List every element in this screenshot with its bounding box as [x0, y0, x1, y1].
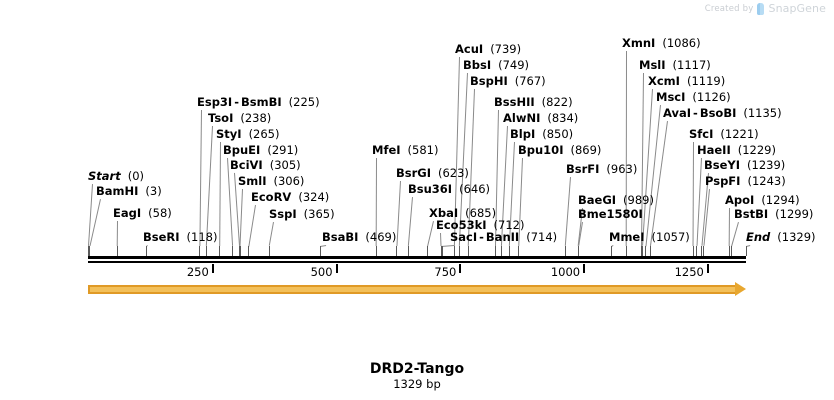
enzyme-name: Bme1580I — [578, 207, 643, 221]
enzyme-name-isoschizomer: BsmBI — [241, 95, 282, 109]
enzyme-leader-line — [248, 205, 256, 246]
enzyme-name: BlpI — [510, 127, 535, 141]
enzyme-label[interactable]: EcoRV(324) — [251, 191, 329, 204]
restriction-site-mark[interactable] — [565, 246, 566, 256]
enzyme-position: (265) — [242, 127, 280, 141]
restriction-site-mark[interactable] — [396, 246, 397, 256]
enzyme-pair-separator: - — [232, 95, 241, 109]
enzyme-label[interactable]: BseRI(118) — [143, 231, 217, 244]
enzyme-position: (714) — [519, 230, 557, 244]
enzyme-position: (749) — [491, 58, 529, 72]
enzyme-name-isoschizomer: BanII — [486, 230, 519, 244]
enzyme-name: Start — [88, 169, 121, 183]
enzyme-name: BspHI — [470, 74, 508, 88]
enzyme-name: SmlI — [238, 174, 267, 188]
enzyme-label[interactable]: XmnI(1086) — [622, 37, 701, 50]
enzyme-label[interactable]: TsoI(238) — [208, 112, 271, 125]
enzyme-position: (646) — [452, 182, 490, 196]
enzyme-name: AvaI — [663, 106, 691, 120]
restriction-site-mark[interactable] — [501, 246, 502, 256]
restriction-site-mark[interactable] — [146, 246, 147, 256]
enzyme-label[interactable]: Bpu10I(869) — [518, 144, 601, 157]
enzyme-name: BaeGI — [578, 193, 616, 207]
enzyme-name: BsrFI — [566, 162, 599, 176]
enzyme-leader-line — [408, 197, 413, 246]
restriction-site-mark[interactable] — [219, 246, 220, 256]
enzyme-label[interactable]: MmeI(1057) — [609, 231, 690, 244]
ruler-tick-label: 750 — [434, 265, 459, 279]
enzyme-label[interactable]: SfcI(1221) — [689, 128, 759, 141]
enzyme-label[interactable]: AcuI(739) — [455, 43, 521, 56]
enzyme-pair-separator: - — [691, 106, 700, 120]
enzyme-name: BssHII — [494, 95, 535, 109]
snapgene-logo-icon — [757, 3, 764, 15]
enzyme-position: (1086) — [655, 36, 700, 50]
restriction-site-mark[interactable] — [240, 246, 241, 256]
restriction-site-mark[interactable] — [199, 246, 200, 256]
enzyme-name: BpuEI — [223, 143, 260, 157]
enzyme-leader-line — [442, 245, 455, 247]
restriction-site-mark[interactable] — [232, 246, 233, 256]
restriction-site-mark[interactable] — [117, 246, 118, 256]
restriction-site-mark[interactable] — [578, 246, 579, 256]
restriction-site-mark[interactable] — [269, 246, 270, 256]
enzyme-leader-line — [219, 142, 221, 246]
enzyme-position: (3) — [138, 184, 161, 198]
enzyme-label[interactable]: BspHI(767) — [470, 75, 546, 88]
enzyme-position: (365) — [297, 207, 335, 221]
enzyme-label[interactable]: SacI-BanII(714) — [450, 231, 557, 244]
restriction-site-mark[interactable] — [495, 246, 496, 256]
enzyme-position: (767) — [508, 74, 546, 88]
enzyme-name: BciVI — [230, 158, 263, 172]
feature-track[interactable] — [88, 285, 746, 294]
enzyme-name: StyI — [216, 127, 242, 141]
restriction-site-mark[interactable] — [703, 246, 704, 256]
enzyme-position: (1229) — [731, 143, 776, 157]
restriction-site-mark[interactable] — [650, 246, 651, 256]
enzyme-label[interactable]: StyI(265) — [216, 128, 280, 141]
enzyme-leader-line — [440, 233, 442, 246]
restriction-site-mark[interactable] — [248, 246, 249, 256]
restriction-site-mark[interactable] — [376, 246, 377, 256]
restriction-site-mark[interactable] — [89, 246, 90, 256]
enzyme-position: (306) — [267, 174, 305, 188]
restriction-site-mark[interactable] — [642, 246, 643, 256]
enzyme-label[interactable]: BaeGI(989) — [578, 194, 654, 207]
enzyme-name-isoschizomer: BsoBI — [700, 106, 737, 120]
restriction-site-mark[interactable] — [518, 246, 519, 256]
restriction-site-mark[interactable] — [701, 246, 702, 256]
enzyme-name: SspI — [269, 207, 297, 221]
enzyme-position: (1221) — [713, 127, 758, 141]
enzyme-label[interactable]: BssHII(822) — [494, 96, 573, 109]
feature-arrow-body[interactable] — [88, 285, 735, 294]
enzyme-pair-separator: - — [477, 230, 486, 244]
enzyme-name: BbsI — [463, 58, 491, 72]
enzyme-name: End — [746, 230, 770, 244]
enzyme-position: (1243) — [740, 174, 785, 188]
feature-arrow-head[interactable] — [735, 282, 746, 296]
enzyme-label[interactable]: SmlI(306) — [238, 175, 304, 188]
ruler-tick — [459, 264, 461, 273]
restriction-site-mark[interactable] — [645, 246, 646, 256]
enzyme-name: PspFI — [705, 174, 740, 188]
enzyme-label[interactable]: BsrFI(963) — [566, 163, 637, 176]
enzyme-label[interactable]: Esp3I-BsmBI(225) — [197, 96, 320, 109]
enzyme-label[interactable]: AvaI-BsoBI(1135) — [663, 107, 782, 120]
enzyme-name: EcoRV — [251, 190, 291, 204]
enzyme-name: BsrGI — [396, 166, 431, 180]
enzyme-leader-line — [427, 221, 434, 246]
enzyme-position: (1294) — [754, 193, 799, 207]
ruler-line-lower — [88, 261, 746, 263]
enzyme-name: XcmI — [648, 74, 680, 88]
enzyme-name: SacI — [450, 230, 477, 244]
watermark-brand-label: SnapGene — [768, 2, 826, 15]
enzyme-name: BsaBI — [322, 230, 358, 244]
enzyme-position: (58) — [141, 206, 172, 220]
enzyme-label[interactable]: BseYI(1239) — [704, 159, 785, 172]
enzyme-position: (291) — [260, 143, 298, 157]
enzyme-label[interactable]: Bme1580I — [578, 208, 643, 221]
enzyme-position: (1329) — [770, 230, 815, 244]
ruler-tick — [212, 264, 214, 273]
enzyme-name: MscI — [656, 90, 685, 104]
restriction-site-mark[interactable] — [408, 246, 409, 256]
enzyme-label[interactable]: PspFI(1243) — [705, 175, 786, 188]
enzyme-label[interactable]: BstBI(1299) — [734, 208, 813, 221]
enzyme-name: HaeII — [697, 143, 731, 157]
ruler-tick — [336, 264, 338, 273]
enzyme-leader-line — [396, 181, 401, 246]
enzyme-name: BstBI — [734, 207, 768, 221]
enzyme-leader-line — [206, 126, 213, 246]
restriction-site-mark[interactable] — [468, 246, 469, 256]
enzyme-position: (1119) — [680, 74, 725, 88]
enzyme-leader-line — [565, 177, 571, 246]
enzyme-position: (305) — [263, 158, 301, 172]
enzyme-name: AlwNI — [503, 111, 540, 125]
enzyme-position: (989) — [616, 193, 654, 207]
enzyme-name: XmnI — [622, 36, 655, 50]
enzyme-name: BseRI — [143, 230, 180, 244]
restriction-site-mark[interactable] — [320, 246, 321, 256]
restriction-map-canvas: Created by SnapGene Start(0)BamHI(3)EagI… — [0, 0, 834, 400]
restriction-site-mark[interactable] — [696, 246, 697, 256]
enzyme-position: (1117) — [666, 58, 711, 72]
enzyme-name: AcuI — [455, 42, 483, 56]
page-subtitle: 1329 bp — [0, 377, 834, 391]
enzyme-position: (1126) — [685, 90, 730, 104]
enzyme-position: (1239) — [740, 158, 785, 172]
enzyme-label[interactable]: MscI(1126) — [656, 91, 731, 104]
enzyme-leader-line — [240, 189, 243, 246]
enzyme-position: (869) — [563, 143, 601, 157]
ruler-tick — [707, 264, 709, 273]
ruler-tick-label: 1000 — [551, 265, 583, 279]
enzyme-label[interactable]: MslI(1117) — [639, 59, 711, 72]
enzyme-name: TsoI — [208, 111, 233, 125]
enzyme-label[interactable]: MfeI(581) — [372, 144, 438, 157]
enzyme-label[interactable]: BsrGI(623) — [396, 167, 469, 180]
enzyme-position: (118) — [180, 230, 218, 244]
restriction-site-mark[interactable] — [729, 246, 730, 256]
enzyme-label[interactable]: BbsI(749) — [463, 59, 529, 72]
enzyme-name: BamHI — [96, 184, 138, 198]
enzyme-name: Bsu36I — [408, 182, 452, 196]
enzyme-name: EagI — [113, 206, 141, 220]
enzyme-position: (581) — [401, 143, 439, 157]
enzyme-position: (324) — [291, 190, 329, 204]
enzyme-leader-line — [731, 222, 739, 246]
enzyme-label[interactable]: BamHI(3) — [96, 185, 162, 198]
restriction-site-mark[interactable] — [693, 246, 694, 256]
enzyme-position: (834) — [540, 111, 578, 125]
ruler-tick-label: 1250 — [675, 265, 707, 279]
restriction-site-mark[interactable] — [731, 246, 732, 256]
restriction-site-mark[interactable] — [459, 246, 460, 256]
enzyme-position: (850) — [535, 127, 573, 141]
enzyme-name: MfeI — [372, 143, 401, 157]
restriction-site-mark[interactable] — [626, 246, 627, 256]
enzyme-name: Esp3I — [197, 95, 232, 109]
enzyme-name: MmeI — [609, 230, 645, 244]
enzyme-name: SfcI — [689, 127, 713, 141]
enzyme-label[interactable]: End(1329) — [746, 231, 816, 244]
restriction-site-mark[interactable] — [611, 246, 612, 256]
enzyme-name: Bpu10I — [518, 143, 563, 157]
enzyme-position: (1135) — [736, 106, 781, 120]
enzyme-label[interactable]: ApoI(1294) — [725, 194, 800, 207]
enzyme-position: (225) — [282, 95, 320, 109]
restriction-site-mark[interactable] — [206, 246, 207, 256]
enzyme-leader-line — [693, 142, 694, 246]
restriction-site-mark[interactable] — [427, 246, 428, 256]
enzyme-label[interactable]: HaeII(1229) — [697, 144, 776, 157]
enzyme-leader-line — [729, 208, 730, 246]
enzyme-position: (238) — [233, 111, 271, 125]
snapgene-watermark: Created by SnapGene — [705, 2, 826, 15]
ruler-tick-label: 250 — [187, 265, 212, 279]
ruler-tick-label: 500 — [311, 265, 336, 279]
enzyme-label[interactable]: BciVI(305) — [230, 159, 301, 172]
restriction-site-mark[interactable] — [442, 246, 443, 256]
restriction-site-mark[interactable] — [746, 246, 747, 256]
enzyme-position: (623) — [431, 166, 469, 180]
enzyme-name: ApoI — [725, 193, 754, 207]
enzyme-leader-line — [696, 158, 702, 246]
enzyme-leader-line — [117, 221, 118, 246]
enzyme-position: (469) — [358, 230, 396, 244]
enzyme-leader-line — [199, 110, 202, 246]
enzyme-position: (739) — [483, 42, 521, 56]
enzyme-label[interactable]: AlwNI(834) — [503, 112, 578, 125]
ruler-tick — [583, 264, 585, 273]
page-title: DRD2-Tango — [0, 361, 834, 377]
enzyme-label[interactable]: XcmI(1119) — [648, 75, 725, 88]
enzyme-label[interactable]: BsaBI(469) — [322, 231, 396, 244]
enzyme-position: (822) — [535, 95, 573, 109]
enzyme-leader-line — [269, 222, 274, 246]
watermark-created-by-label: Created by — [705, 4, 754, 14]
enzyme-label[interactable]: Bsu36I(646) — [408, 183, 490, 196]
enzyme-name: BseYI — [704, 158, 740, 172]
restriction-site-mark[interactable] — [509, 246, 510, 256]
enzyme-position: (1299) — [768, 207, 813, 221]
enzyme-label[interactable]: BlpI(850) — [510, 128, 573, 141]
enzyme-label[interactable]: Start(0) — [88, 170, 144, 183]
enzyme-label[interactable]: EagI(58) — [113, 207, 172, 220]
enzyme-position: (963) — [599, 162, 637, 176]
enzyme-name: MslI — [639, 58, 666, 72]
enzyme-label[interactable]: SspI(365) — [269, 208, 335, 221]
enzyme-position: (0) — [121, 169, 144, 183]
enzyme-label[interactable]: BpuEI(291) — [223, 144, 298, 157]
restriction-site-mark[interactable] — [454, 246, 455, 256]
enzyme-position: (1057) — [645, 230, 690, 244]
ruler-line-upper — [88, 256, 746, 259]
